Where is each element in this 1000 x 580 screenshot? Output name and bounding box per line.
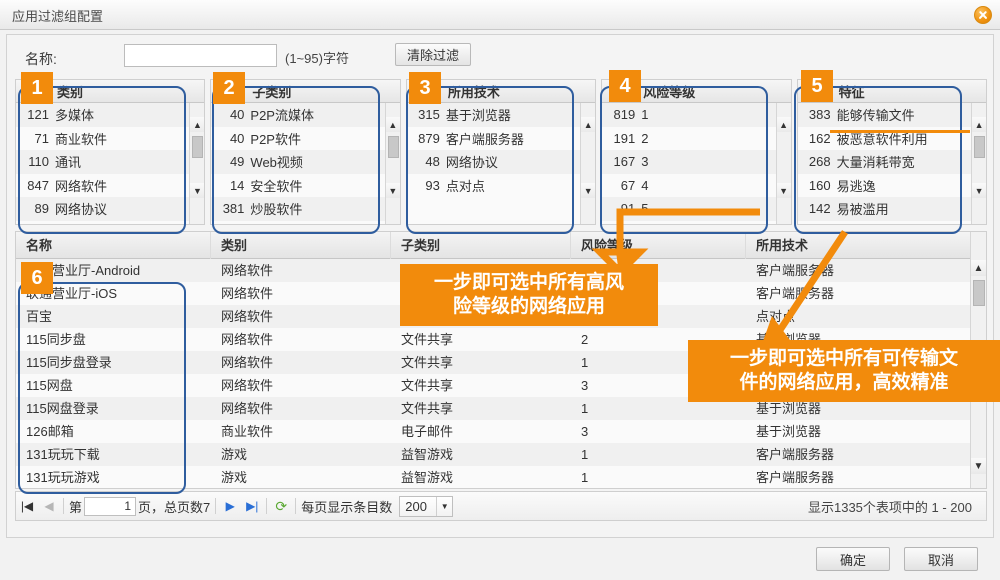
cell-name: 131玩玩下载 (16, 443, 211, 466)
filter-row[interactable]: 381炒股软件 (211, 197, 399, 221)
scroll-thumb[interactable] (974, 136, 985, 158)
filter-scrollbar[interactable]: ▲ ▼ (776, 103, 791, 224)
cell-subcategory: 文件共享 (391, 397, 571, 420)
filter-label: Web视频 (250, 152, 303, 171)
page-prefix-label: 第 (67, 497, 84, 516)
cell-subcategory: 益智游戏 (391, 443, 571, 466)
filter-body-risk[interactable]: 8191 1912 1673 674 915 ▲ ▼ (602, 103, 790, 224)
filter-row[interactable]: 1912 (602, 127, 790, 151)
cell-risk: 1 (571, 443, 746, 466)
filter-count: 819 (605, 107, 641, 122)
filter-count: 191 (605, 131, 641, 146)
scroll-up-icon[interactable]: ▲ (581, 117, 595, 132)
page-number-input[interactable] (84, 497, 136, 516)
cell-category: 网络软件 (211, 259, 391, 282)
filter-count: 381 (214, 201, 250, 216)
cell-category: 游戏 (211, 443, 391, 466)
scroll-down-icon[interactable]: ▼ (386, 183, 400, 198)
filter-label: 客户端服务器 (446, 129, 524, 148)
badge-2: 2 (213, 72, 245, 104)
filter-label: 网络软件 (55, 176, 107, 195)
filter-row[interactable]: 71商业软件 (16, 127, 204, 151)
scroll-down-icon[interactable]: ▼ (190, 183, 204, 198)
filter-row[interactable]: 60大型多人在线游戏 (211, 221, 399, 225)
filter-row[interactable]: 97游戏 (16, 221, 204, 225)
cell-category: 网络软件 (211, 374, 391, 397)
filter-label: 游戏 (55, 223, 81, 224)
table-header-row: 名称 类别 子类别 风险等级 所用技术 (16, 232, 986, 259)
cell-technology: 客户端服务器 (746, 443, 971, 466)
filter-label: 多媒体 (55, 105, 94, 124)
filter-body-feature[interactable]: 383能够传输文件 162被恶意软件利用 268大量消耗带宽 160易逃逸 14… (798, 103, 986, 224)
cell-subcategory: 益智游戏 (391, 466, 571, 489)
filter-label: 易被滥用 (837, 199, 889, 218)
scroll-up-icon[interactable]: ▲ (972, 117, 986, 132)
filter-count: 49 (214, 154, 250, 169)
filter-count: 847 (19, 178, 55, 193)
cell-category: 商业软件 (211, 420, 391, 443)
filter-row[interactable]: 49Web视频 (211, 150, 399, 174)
filter-row[interactable]: 110通讯 (16, 150, 204, 174)
cell-subcategory: 文件共享 (391, 351, 571, 374)
filter-row[interactable]: 268大量消耗带宽 (798, 150, 986, 174)
cell-category: 网络软件 (211, 282, 391, 305)
title-bar: 应用过滤组配置 (0, 0, 1000, 30)
filter-row[interactable]: 14安全软件 (211, 174, 399, 198)
filter-count: 91 (605, 201, 641, 216)
filter-row[interactable]: 8191 (602, 103, 790, 127)
filter-label: 大型多人在线游戏 (250, 223, 354, 224)
filter-label: 5 (641, 201, 648, 216)
badge-4: 4 (609, 70, 641, 102)
filter-label: 安全软件 (250, 176, 302, 195)
filter-scrollbar[interactable]: ▲ ▼ (971, 103, 986, 224)
callout-risk-level: 一步即可选中所有高风 险等级的网络应用 (400, 264, 658, 326)
filter-label: 点对点 (446, 176, 485, 195)
ok-button[interactable]: 确定 (816, 547, 890, 571)
column-header-category[interactable]: 类别 (211, 232, 391, 259)
filter-label: 基于浏览器 (446, 105, 511, 124)
callout-line-1: 一步即可选中所有高风 (410, 271, 648, 295)
close-icon[interactable] (974, 6, 992, 24)
page-suffix-label: 页，总页数7 (136, 497, 212, 516)
cell-risk: 1 (571, 466, 746, 489)
filter-count: 142 (801, 201, 837, 216)
filter-count: 160 (801, 178, 837, 193)
cell-technology: 客户端服务器 (746, 259, 971, 282)
divider (266, 498, 267, 514)
filter-label: 炒股软件 (250, 199, 302, 218)
filter-label: P2P软件 (250, 129, 301, 148)
cell-name: 115同步盘登录 (16, 351, 211, 374)
chevron-down-icon[interactable]: ▼ (436, 497, 452, 516)
window-title: 应用过滤组配置 (12, 6, 103, 25)
record-summary: 显示1335个表项中的 1 - 200 (808, 497, 986, 516)
cell-category: 网络软件 (211, 305, 391, 328)
cell-name: 126邮箱 (16, 420, 211, 443)
filter-count: 14 (214, 178, 250, 193)
scroll-thumb[interactable] (388, 136, 399, 158)
filter-row[interactable]: 160易逃逸 (798, 174, 986, 198)
filter-row[interactable]: 1673 (602, 150, 790, 174)
last-page-icon[interactable]: ▶| (241, 492, 263, 520)
scroll-up-icon[interactable]: ▲ (386, 117, 400, 132)
scroll-down-icon[interactable]: ▼ (972, 183, 986, 198)
filter-label: 通讯 (55, 152, 81, 171)
cell-category: 网络软件 (211, 351, 391, 374)
column-header-subcategory[interactable]: 子类别 (391, 232, 571, 259)
scroll-down-icon[interactable]: ▼ (777, 183, 791, 198)
filter-row[interactable]: 89网络协议 (16, 197, 204, 221)
next-page-icon[interactable]: ▶ (219, 492, 241, 520)
feature-underline (830, 130, 970, 133)
filter-count: 93 (410, 178, 446, 193)
divider (215, 498, 216, 514)
cell-name: 115网盘 (16, 374, 211, 397)
filter-count: 383 (801, 107, 837, 122)
pagination-bar: |◀ ◀ 第 页，总页数7 ▶ ▶| ⟳ 每页显示条目数 200 ▼ 显示133… (15, 491, 987, 521)
filter-row[interactable]: 383能够传输文件 (798, 103, 986, 127)
filter-count: 40 (214, 107, 250, 122)
filter-label: 能够传输文件 (837, 105, 915, 124)
filter-label: 1 (641, 107, 648, 122)
badge-6: 6 (21, 262, 53, 294)
column-header-technology[interactable]: 所用技术 (746, 232, 971, 259)
filter-row[interactable]: 674 (602, 174, 790, 198)
cell-risk: 3 (571, 420, 746, 443)
badge-1: 1 (21, 72, 53, 104)
scroll-up-icon[interactable]: ▲ (971, 260, 986, 276)
filter-count: 71 (19, 131, 55, 146)
filter-count: 121 (19, 107, 55, 122)
filter-row[interactable]: 48网络协议 (407, 150, 595, 174)
per-page-label: 每页显示条目数 (299, 497, 394, 516)
callout-file-transfer: 一步即可选中所有可传输文 件的网络应用，高效精准 (688, 340, 1000, 402)
filter-count: 167 (605, 154, 641, 169)
filter-label: 商业软件 (55, 129, 107, 148)
filter-scrollbar[interactable]: ▲ ▼ (580, 103, 595, 224)
badge-3: 3 (409, 72, 441, 104)
clear-filter-button[interactable]: 清除过滤 (395, 43, 471, 66)
cell-subcategory: 文件共享 (391, 374, 571, 397)
scroll-up-icon[interactable]: ▲ (190, 117, 204, 132)
filter-label: P2P流媒体 (250, 105, 314, 124)
filter-label: 网络协议 (55, 199, 107, 218)
filter-label: 被其他应用使用 (837, 223, 928, 224)
filter-scrollbar[interactable]: ▲ ▼ (189, 103, 204, 224)
cell-name: 131玩玩游戏 (16, 466, 211, 489)
filter-row[interactable]: 40P2P流媒体 (211, 103, 399, 127)
table-row[interactable]: 126邮箱 商业软件 电子邮件 3 基于浏览器 (16, 420, 986, 443)
cell-technology: 基于浏览器 (746, 420, 971, 443)
dialog-footer: 确定 取消 (0, 538, 1000, 580)
cell-technology: 客户端服务器 (746, 466, 971, 489)
filter-row[interactable]: 161被其他应用使用 (798, 221, 986, 225)
filter-label: 3 (641, 154, 648, 169)
filter-row[interactable]: 121多媒体 (16, 103, 204, 127)
filter-label: 大量消耗带宽 (837, 152, 915, 171)
filter-row[interactable]: 315基于浏览器 (407, 103, 595, 127)
cell-name: 115网盘登录 (16, 397, 211, 420)
column-header-name[interactable]: 名称 (16, 232, 211, 259)
cell-technology: 点对点 (746, 305, 971, 328)
filter-row[interactable]: 847网络软件 (16, 174, 204, 198)
filter-count: 162 (801, 131, 837, 146)
filter-scrollbar[interactable]: ▲ ▼ (385, 103, 400, 224)
filter-row[interactable]: 40P2P软件 (211, 127, 399, 151)
filter-count: 67 (605, 178, 641, 193)
prev-page-icon[interactable]: ◀ (38, 492, 60, 520)
cell-name: 115同步盘 (16, 328, 211, 351)
cell-technology: 客户端服务器 (746, 282, 971, 305)
cancel-button[interactable]: 取消 (904, 547, 978, 571)
filter-row[interactable]: 915 (602, 197, 790, 221)
scroll-up-icon[interactable]: ▲ (777, 117, 791, 132)
callout-line-2: 险等级的网络应用 (410, 295, 648, 319)
per-page-select[interactable]: 200 ▼ (399, 496, 453, 517)
callout-line-2: 件的网络应用，高效精准 (698, 371, 990, 395)
filter-lists: 类别 121多媒体 71商业软件 110通讯 847网络软件 89网络协议 97… (15, 79, 987, 225)
filter-count: 48 (410, 154, 446, 169)
app-filter-group-dialog: 应用过滤组配置 名称: (1~95)字符 清除过滤 类别 121多媒体 71商业… (0, 0, 1000, 580)
scroll-down-icon[interactable]: ▼ (971, 458, 986, 474)
filter-count: 879 (410, 131, 446, 146)
table-row[interactable]: 131玩玩下载 游戏 益智游戏 1 客户端服务器 (16, 443, 986, 466)
column-header-risk[interactable]: 风险等级 (571, 232, 746, 259)
callout-line-1: 一步即可选中所有可传输文 (698, 347, 990, 371)
badge-5: 5 (801, 70, 833, 102)
cell-category: 游戏 (211, 466, 391, 489)
filter-count: 89 (19, 201, 55, 216)
cell-subcategory: 文件共享 (391, 328, 571, 351)
per-page-value: 200 (400, 499, 436, 514)
divider (63, 498, 64, 514)
filter-row[interactable]: 142易被滥用 (798, 197, 986, 221)
filter-count: 40 (214, 131, 250, 146)
cell-name: 百宝 (16, 305, 211, 328)
name-label: 名称: (25, 49, 57, 69)
filter-count: 315 (410, 107, 446, 122)
filter-label: 易逃逸 (837, 176, 876, 195)
cell-category: 网络软件 (211, 328, 391, 351)
filter-label: 4 (641, 178, 648, 193)
table-row[interactable]: 131玩玩游戏 游戏 益智游戏 1 客户端服务器 (16, 466, 986, 489)
scroll-thumb[interactable] (973, 280, 985, 306)
filter-label: 2 (641, 131, 648, 146)
refresh-icon[interactable]: ⟳ (270, 492, 292, 520)
filter-count: 110 (19, 154, 55, 169)
filter-body-category[interactable]: 121多媒体 71商业软件 110通讯 847网络软件 89网络协议 97游戏 … (16, 103, 204, 224)
name-row: 名称: (1~95)字符 清除过滤 (17, 43, 977, 73)
filter-row[interactable]: 93点对点 (407, 174, 595, 198)
cell-subcategory: 电子邮件 (391, 420, 571, 443)
scroll-thumb[interactable] (192, 136, 203, 158)
filter-body-technology[interactable]: 315基于浏览器 879客户端服务器 48网络协议 93点对点 ▲ ▼ (407, 103, 595, 224)
filter-count: 268 (801, 154, 837, 169)
cell-category: 网络软件 (211, 397, 391, 420)
scroll-down-icon[interactable]: ▼ (581, 183, 595, 198)
name-hint: (1~95)字符 (285, 48, 349, 67)
filter-row[interactable]: 879客户端服务器 (407, 127, 595, 151)
name-input[interactable] (124, 44, 277, 67)
divider (295, 498, 296, 514)
filter-body-subcategory[interactable]: 40P2P流媒体 40P2P软件 49Web视频 14安全软件 381炒股软件 … (211, 103, 399, 224)
first-page-icon[interactable]: |◀ (16, 492, 38, 520)
filter-label: 网络协议 (446, 152, 498, 171)
